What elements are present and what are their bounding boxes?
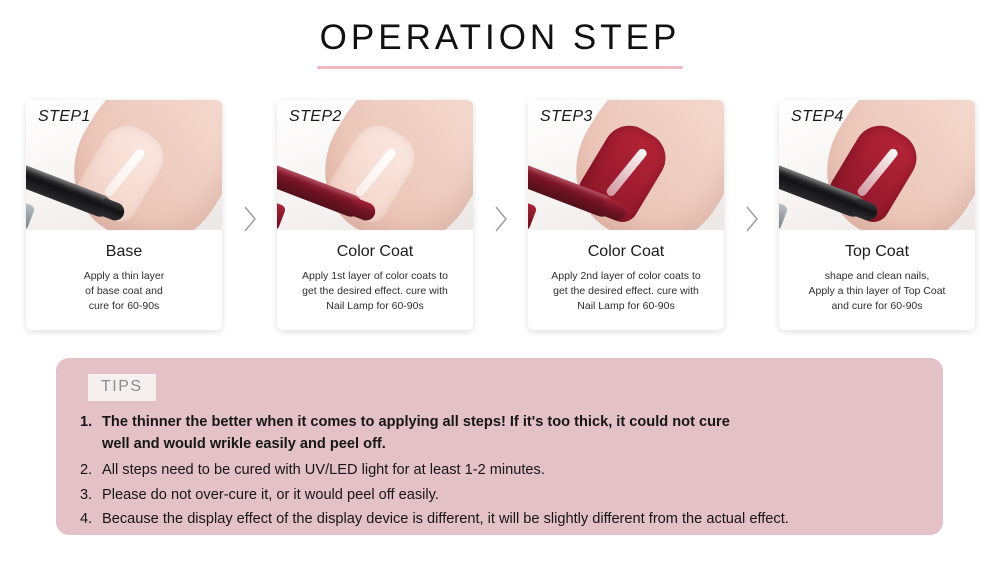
tips-item-line: Please do not over-cure it, or it would … [102, 487, 439, 503]
tips-item-number: 1. [80, 412, 92, 434]
step-body-4: Top Coat shape and clean nails, Apply a … [779, 230, 975, 330]
step-desc-line: Nail Lamp for 60-90s [285, 299, 465, 314]
tips-list-item-1: 1. The thinner the better when it comes … [80, 412, 925, 455]
tips-item-line: The thinner the better when it comes to … [102, 414, 730, 430]
step-card-1[interactable]: STEP1 Base Apply a thin layer of base co… [26, 100, 222, 330]
tips-item-line: well and would wrikle easily and peel of… [102, 436, 386, 452]
step-card-4[interactable]: STEP4 Top Coat shape and clean nails, Ap… [779, 100, 975, 330]
tips-item-number: 2. [80, 460, 92, 482]
step-title-2: Color Coat [285, 242, 465, 262]
step-photo-1: STEP1 [26, 100, 222, 230]
tips-list-item-3: 3. Please do not over-cure it, or it wou… [80, 485, 925, 507]
operation-step-infographic: OPERATION STEP STEP1 Base Apply a thin l… [0, 0, 1000, 563]
step-desc-line: cure for 60-90s [34, 299, 214, 314]
tips-item-number: 4. [80, 509, 92, 531]
step-title-4: Top Coat [787, 242, 967, 262]
tips-badge: TIPS [88, 374, 156, 401]
step-card-2[interactable]: STEP2 Color Coat Apply 1st layer of colo… [277, 100, 473, 330]
chevron-right-icon [473, 100, 528, 338]
step-desc-line: Apply a thin layer [34, 269, 214, 284]
nail-shine-highlight [856, 147, 899, 198]
step-photo-2: STEP2 [277, 100, 473, 230]
tips-panel: TIPS 1. The thinner the better when it c… [56, 358, 943, 535]
step-desc-line: and cure for 60-90s [787, 299, 967, 314]
tips-list-item-2: 2. All steps need to be cured with UV/LE… [80, 460, 925, 482]
chevron-right-icon [724, 100, 779, 338]
title-underline-rule [317, 66, 683, 69]
step-desc-line: Apply 2nd layer of color coats to [536, 269, 716, 284]
step-desc-line: get the desired effect. cure with [536, 284, 716, 299]
tips-item-number: 3. [80, 485, 92, 507]
step-body-1: Base Apply a thin layer of base coat and… [26, 230, 222, 330]
step-photo-4: STEP4 [779, 100, 975, 230]
page-title: OPERATION STEP [0, 16, 1000, 60]
step-label-1: STEP1 [38, 108, 91, 126]
step-desc-line: of base coat and [34, 284, 214, 299]
steps-row: STEP1 Base Apply a thin layer of base co… [26, 100, 976, 338]
step-label-2: STEP2 [289, 108, 342, 126]
step-title-3: Color Coat [536, 242, 716, 262]
step-title-1: Base [34, 242, 214, 262]
tips-list: 1. The thinner the better when it comes … [80, 412, 925, 534]
tips-item-line: All steps need to be cured with UV/LED l… [102, 462, 545, 478]
nail-shine-highlight [103, 147, 146, 198]
step-photo-3: STEP3 [528, 100, 724, 230]
step-body-3: Color Coat Apply 2nd layer of color coat… [528, 230, 724, 330]
step-desc-line: Nail Lamp for 60-90s [536, 299, 716, 314]
step-body-2: Color Coat Apply 1st layer of color coat… [277, 230, 473, 330]
step-label-3: STEP3 [540, 108, 593, 126]
nail-shine-highlight [605, 147, 648, 198]
step-desc-1: Apply a thin layer of base coat and cure… [34, 269, 214, 314]
page-header: OPERATION STEP [0, 16, 1000, 69]
step-desc-2: Apply 1st layer of color coats to get th… [285, 269, 465, 314]
tips-item-line: Because the display effect of the displa… [102, 511, 789, 527]
step-desc-4: shape and clean nails, Apply a thin laye… [787, 269, 967, 314]
step-desc-line: shape and clean nails, [787, 269, 967, 284]
step-desc-line: Apply 1st layer of color coats to [285, 269, 465, 284]
step-desc-line: get the desired effect. cure with [285, 284, 465, 299]
chevron-right-icon [222, 100, 277, 338]
step-desc-line: Apply a thin layer of Top Coat [787, 284, 967, 299]
step-label-4: STEP4 [791, 108, 844, 126]
nail-shine-highlight [354, 147, 397, 198]
tips-list-item-4: 4. Because the display effect of the dis… [80, 509, 925, 531]
step-card-3[interactable]: STEP3 Color Coat Apply 2nd layer of colo… [528, 100, 724, 330]
step-desc-3: Apply 2nd layer of color coats to get th… [536, 269, 716, 314]
